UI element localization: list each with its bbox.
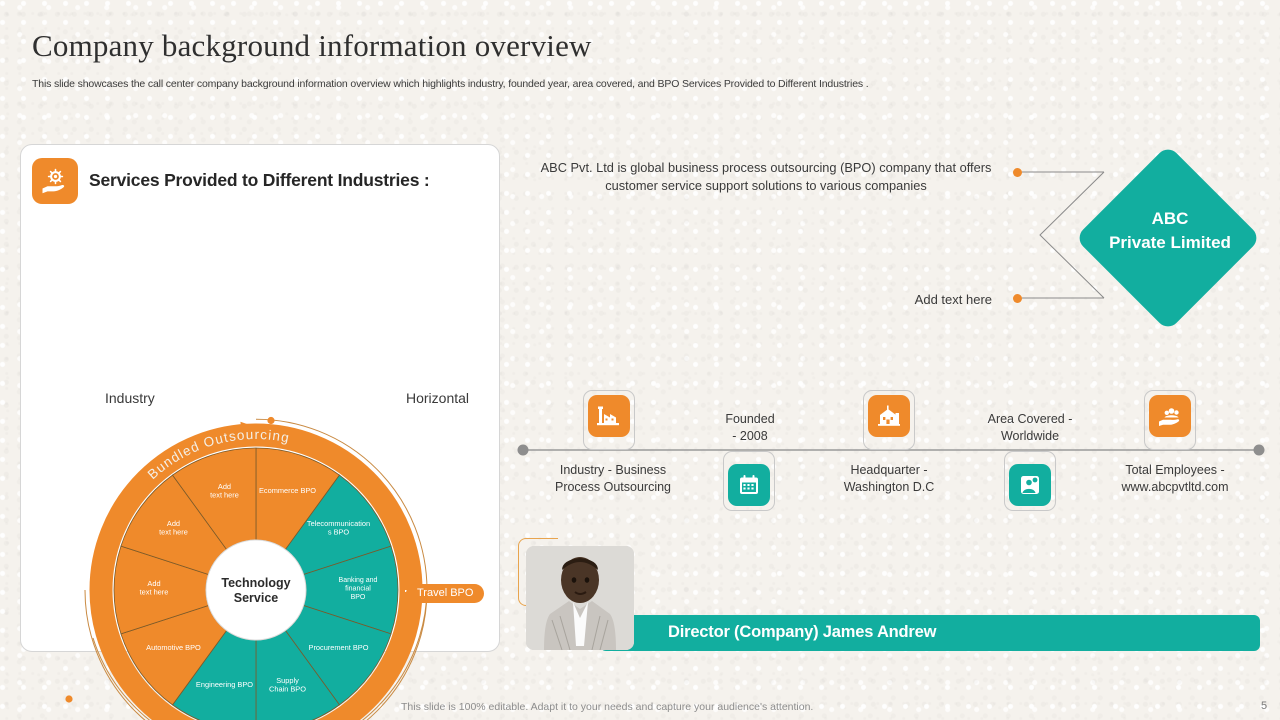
avatar (526, 546, 634, 650)
page-title: Company background information overview (32, 28, 592, 64)
company-facts-timeline: Industry - Business Process Outsourcing … (515, 378, 1267, 523)
hand-gear-icon (32, 158, 78, 204)
calendar-icon (728, 464, 770, 506)
card-heading: Services Provided to Different Industrie… (89, 170, 430, 191)
diamond-label-line2: Private Limited (1080, 231, 1260, 255)
timeline-label-1: Industry - Business Process Outsourcing (537, 462, 689, 497)
director-name-text: Director (Company) James Andrew (668, 623, 936, 642)
donut-segment-label: Procurement BPO (309, 643, 369, 652)
company-intro-text: ABC Pvt. Ltd is global business process … (536, 159, 996, 195)
add-text-here-label[interactable]: Add text here (830, 292, 992, 307)
donut-segment-label: Engineering BPO (196, 680, 253, 689)
globe-person-icon (1009, 464, 1051, 506)
building-icon (868, 395, 910, 437)
donut-segment-label: Automotive BPO (146, 643, 201, 652)
hand-people-icon (1149, 395, 1191, 437)
donut-center-label-2: Service (234, 591, 279, 605)
donut-center-label-1: Technology (221, 576, 290, 590)
diamond-label: ABC Private Limited (1080, 207, 1260, 255)
slide-canvas: Company background information overview … (0, 0, 1280, 720)
diamond-label-line1: ABC (1080, 207, 1260, 231)
page-number: 5 (1261, 700, 1267, 712)
donut-segment-label: Ecommerce BPO (259, 486, 316, 495)
timeline-label-4: Area Covered - Worldwide (960, 411, 1100, 446)
travel-bpo-pill[interactable]: Travel BPO (406, 584, 484, 603)
footer-note: This slide is 100% editable. Adapt it to… (401, 701, 813, 713)
bpo-services-donut-chart: Technology Service Bundled Outsourcing E… (33, 397, 493, 720)
timeline-label-5: Total Employees - www.abcpvtltd.com (1095, 462, 1255, 497)
services-card: Services Provided to Different Industrie… (20, 144, 500, 652)
timeline-label-3: Headquarter - Washington D.C (819, 462, 959, 497)
factory-icon (588, 395, 630, 437)
page-subtitle: This slide showcases the call center com… (32, 78, 869, 90)
timeline-label-2: Founded - 2008 (685, 411, 815, 446)
